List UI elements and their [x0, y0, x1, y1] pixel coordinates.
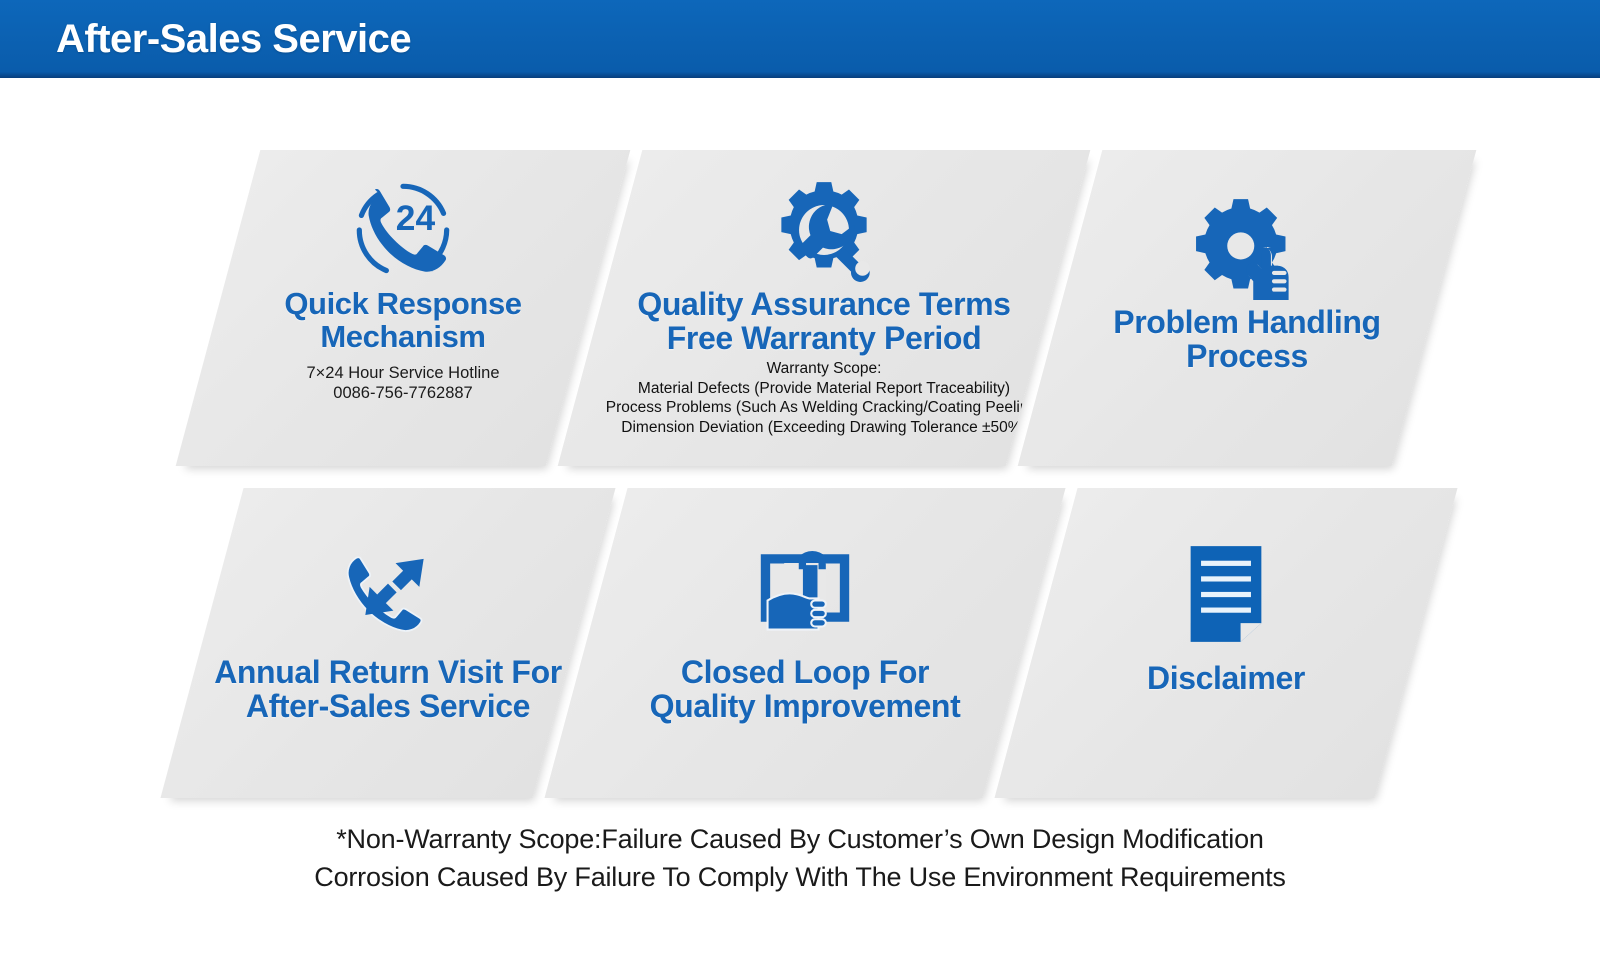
phone-arrows-callback-icon — [334, 530, 442, 646]
document-lines-icon — [1180, 536, 1272, 652]
card-title: Annual Return Visit For After-Sales Serv… — [204, 656, 572, 724]
warranty-scope: Warranty Scope: Material Defects (Provid… — [602, 359, 1047, 438]
card-problem-handling[interactable]: Problem Handling Process — [1018, 150, 1477, 466]
hotline-info: 7×24 Hour Service Hotline 0086-756-77628… — [300, 363, 505, 403]
phone-24-support-icon: 24 — [351, 176, 455, 284]
gear-wrench-icon — [772, 176, 876, 284]
card-row-top: 24 Quick Response Mechanism 7×24 Hour Se… — [92, 150, 1512, 466]
card-title: Closed Loop For Quality Improvement — [640, 656, 971, 724]
page-header: After-Sales Service — [0, 0, 1600, 78]
gear-hand-click-icon — [1195, 194, 1299, 302]
card-title: Quality Assurance Terms Free Warranty Pe… — [627, 288, 1020, 356]
card-quick-response[interactable]: 24 Quick Response Mechanism 7×24 Hour Se… — [176, 150, 631, 466]
card-annual-return-visit[interactable]: Annual Return Visit For After-Sales Serv… — [160, 488, 615, 798]
non-warranty-note: *Non-Warranty Scope:Failure Caused By Cu… — [0, 820, 1600, 897]
card-title: Quick Response Mechanism — [274, 288, 531, 354]
svg-text:24: 24 — [396, 199, 436, 238]
page-title: After-Sales Service — [56, 17, 411, 62]
content-area: 24 Quick Response Mechanism 7×24 Hour Se… — [0, 78, 1600, 963]
card-row-bottom: Annual Return Visit For After-Sales Serv… — [92, 488, 1512, 798]
card-title: Problem Handling Process — [1103, 306, 1390, 374]
card-grid: 24 Quick Response Mechanism 7×24 Hour Se… — [92, 150, 1512, 820]
card-quality-assurance[interactable]: Quality Assurance Terms Free Warranty Pe… — [558, 150, 1091, 466]
card-disclaimer[interactable]: Disclaimer — [994, 488, 1457, 798]
card-title: Disclaimer — [1137, 662, 1315, 696]
card-closed-loop-quality[interactable]: Closed Loop For Quality Improvement — [544, 488, 1065, 798]
hand-wrench-screen-icon — [751, 530, 859, 646]
